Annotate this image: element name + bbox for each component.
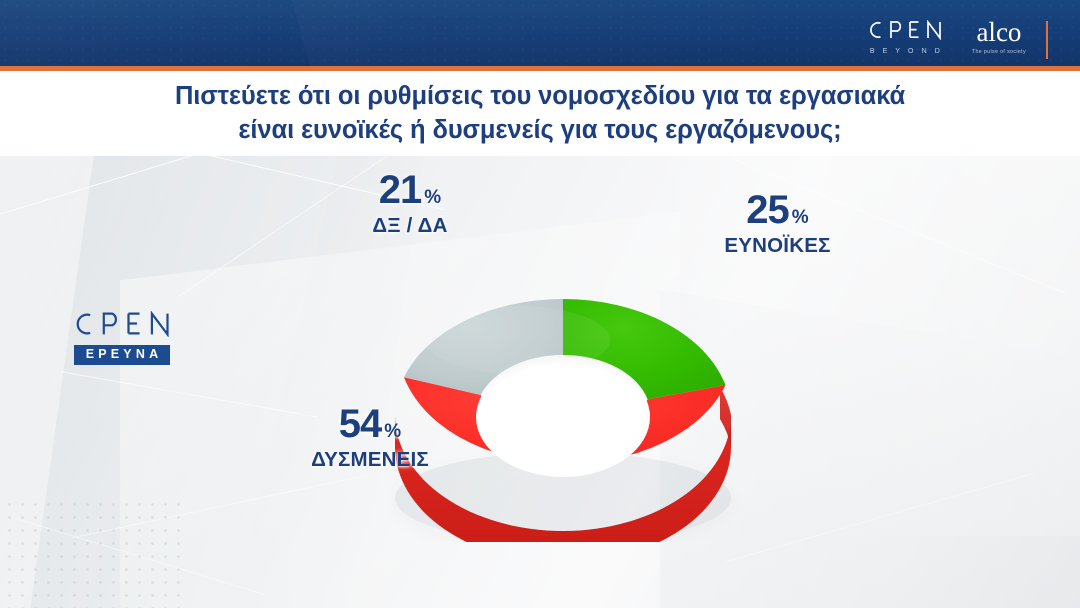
alco-tagline: The pulse of society (972, 49, 1026, 55)
callout-unfavourable-value: 54 (339, 404, 382, 444)
header-facet-right (277, 0, 823, 66)
callout-unfavourable-label: ΔΥΣΜΕΝΕΙΣ (275, 450, 465, 471)
callout-unfavourable-percent-sign: % (384, 422, 401, 441)
callout-dontknow: 21% ΔΞ / ΔΑ (330, 170, 490, 237)
callout-favourable-label: ΕΥΝΟΪΚΕΣ (690, 236, 865, 257)
callout-dontknow-value-row: 21% (330, 170, 490, 210)
chart-stage: ΕΡΕΥΝΑ (0, 156, 1080, 608)
alco-wordmark: alco (976, 20, 1021, 46)
chart-highlight (426, 306, 610, 374)
question-title: Πιστεύετε ότι οι ρυθμίσεις του νομοσχεδί… (0, 71, 1080, 156)
question-title-line2: είναι ευνοϊκές ή δυσμενείς για τους εργα… (238, 114, 841, 148)
background-dot-pattern (0, 498, 180, 608)
open-beyond-logo: B E Y O N D (866, 20, 964, 55)
background-streak (726, 473, 1034, 562)
background-streak (73, 475, 367, 538)
poll-result-slide: B E Y O N D alco The pulse of society Πι… (0, 0, 1080, 608)
callout-dontknow-label: ΔΞ / ΔΑ (330, 216, 490, 237)
brand-divider (1046, 21, 1048, 59)
background-facet-1 (0, 156, 349, 608)
question-title-line1: Πιστεύετε ότι οι ρυθμίσεις του νομοσχεδί… (175, 80, 905, 114)
callout-unfavourable: 54% ΔΥΣΜΕΝΕΙΣ (275, 404, 465, 471)
callout-favourable-value-row: 25% (690, 190, 865, 230)
callout-unfavourable-value-row: 54% (275, 404, 465, 444)
background-streak (16, 518, 265, 595)
open-ereyna-logo: ΕΡΕΥΝΑ (62, 311, 182, 365)
open-wordmark-icon (70, 311, 174, 341)
open-wordmark-icon (866, 20, 944, 44)
ereyna-badge: ΕΡΕΥΝΑ (74, 345, 171, 365)
callout-dontknow-value: 21 (379, 170, 422, 210)
alco-logo: alco The pulse of society (964, 20, 1042, 55)
callout-dontknow-percent-sign: % (424, 188, 441, 207)
callout-favourable-percent-sign: % (792, 208, 809, 227)
donut-hole (476, 357, 650, 477)
open-beyond-tagline: B E Y O N D (867, 48, 943, 55)
brand-cluster: B E Y O N D alco The pulse of society (866, 20, 1048, 60)
background-streak (0, 156, 274, 219)
callout-favourable: 25% ΕΥΝΟΪΚΕΣ (690, 190, 865, 257)
callout-favourable-value: 25 (746, 190, 789, 230)
donut-side-wall-right (720, 387, 731, 447)
